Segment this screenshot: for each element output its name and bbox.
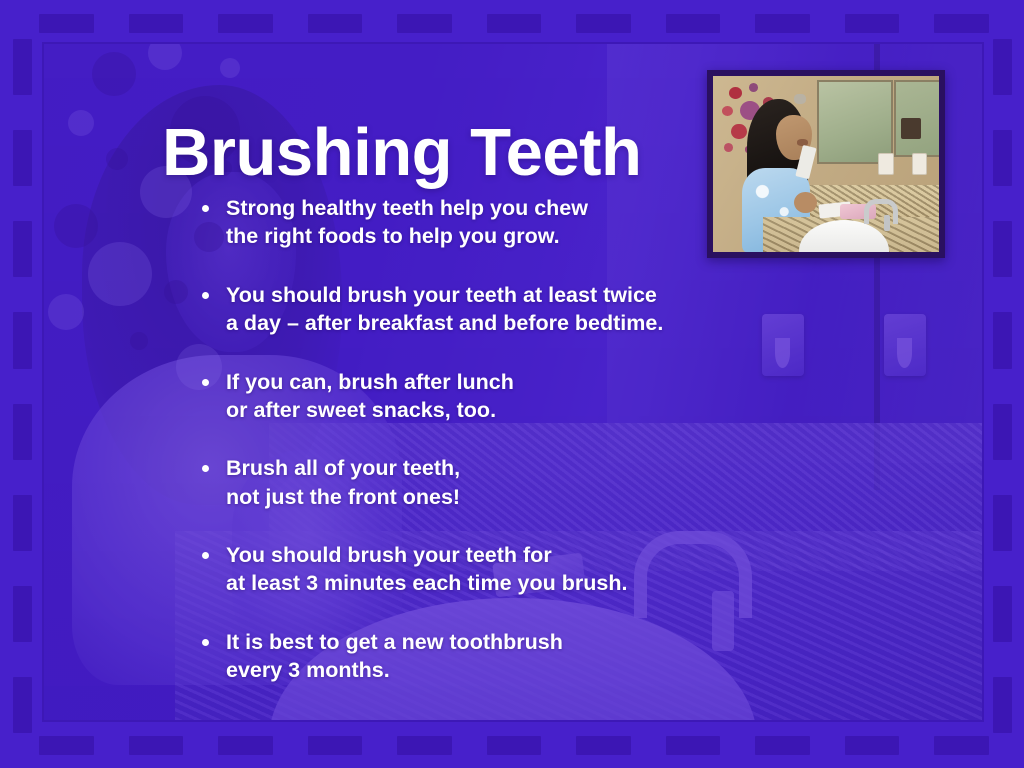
bullet-line: You should brush your teeth at least twi…: [226, 281, 742, 309]
frame-dash: [39, 736, 94, 755]
frame-dash: [13, 586, 32, 642]
bullet-dot-icon: [202, 379, 209, 386]
page-title: Brushing Teeth: [162, 119, 641, 186]
wall-decal-dot: [729, 87, 743, 99]
inset-mirror-reflection: [901, 118, 921, 139]
frame-dash: [13, 495, 32, 551]
presentation-slide: Brushing Teeth Strong healthy teeth help…: [0, 0, 1024, 768]
frame-dashes-bottom: [0, 734, 1024, 756]
frame-dash: [993, 586, 1012, 642]
frame-dash: [576, 736, 631, 755]
frame-dashes-top: [0, 12, 1024, 34]
list-item: Strong healthy teeth help you chew the r…: [202, 194, 742, 251]
bullet-line: It is best to get a new toothbrush: [226, 628, 742, 656]
frame-dash: [39, 14, 94, 33]
frame-dash: [666, 736, 721, 755]
list-item: Brush all of your teeth, not just the fr…: [202, 454, 742, 511]
frame-dash: [397, 14, 452, 33]
bullet-dot-icon: [202, 552, 209, 559]
inset-photo-image: [713, 76, 939, 252]
bullet-dot-icon: [202, 292, 209, 299]
inset-wall-outlet: [912, 153, 928, 174]
frame-dashes-right: [990, 0, 1014, 768]
frame-dash: [993, 312, 1012, 368]
bullet-dot-icon: [202, 205, 209, 212]
bullet-line: at least 3 minutes each time you brush.: [226, 569, 742, 597]
bullet-line: Strong healthy teeth help you chew: [226, 194, 742, 222]
frame-dash: [993, 130, 1012, 186]
frame-dash: [993, 677, 1012, 733]
frame-dash: [755, 736, 810, 755]
inset-faucet: [862, 199, 896, 231]
list-item: You should brush your teeth at least twi…: [202, 281, 742, 338]
frame-dash: [13, 404, 32, 460]
inset-towel-hook: [794, 94, 805, 105]
bullet-line: If you can, brush after lunch: [226, 368, 742, 396]
frame-dash: [13, 130, 32, 186]
frame-dash: [934, 736, 989, 755]
wall-decal-dot: [749, 83, 758, 92]
frame-dash: [129, 736, 184, 755]
inset-mirror-cabinet: [817, 80, 893, 165]
frame-dash: [993, 404, 1012, 460]
frame-dash: [993, 39, 1012, 95]
frame-dash: [666, 14, 721, 33]
frame-dash: [845, 736, 900, 755]
frame-dash: [129, 14, 184, 33]
frame-dash: [13, 221, 32, 277]
bullet-line: every 3 months.: [226, 656, 742, 684]
frame-dash: [13, 312, 32, 368]
list-item: You should brush your teeth for at least…: [202, 541, 742, 598]
bullet-line: Brush all of your teeth,: [226, 454, 742, 482]
wall-decal-dot: [724, 143, 733, 152]
list-item: It is best to get a new toothbrush every…: [202, 628, 742, 685]
frame-dash: [13, 677, 32, 733]
frame-dash: [218, 14, 273, 33]
girl-brushing-teeth-photo: [707, 70, 945, 258]
frame-dash: [576, 14, 631, 33]
bullet-list: Strong healthy teeth help you chew the r…: [202, 194, 742, 685]
frame-dash: [308, 14, 363, 33]
bullet-line: a day – after breakfast and before bedti…: [226, 309, 742, 337]
wall-decal-dot: [731, 124, 747, 140]
bullet-line: not just the front ones!: [226, 483, 742, 511]
frame-dash: [397, 736, 452, 755]
frame-dash: [487, 736, 542, 755]
bullet-line: or after sweet snacks, too.: [226, 396, 742, 424]
bullet-dot-icon: [202, 639, 209, 646]
frame-dash: [993, 495, 1012, 551]
bullet-line: the right foods to help you grow.: [226, 222, 742, 250]
bullet-dot-icon: [202, 465, 209, 472]
frame-dash: [845, 14, 900, 33]
frame-dash: [218, 736, 273, 755]
frame-dash: [755, 14, 810, 33]
inset-wall-outlet: [878, 153, 894, 174]
frame-dash: [487, 14, 542, 33]
frame-dash: [13, 39, 32, 95]
bullet-line: You should brush your teeth for: [226, 541, 742, 569]
frame-dash: [308, 736, 363, 755]
frame-dash: [993, 221, 1012, 277]
list-item: If you can, brush after lunch or after s…: [202, 368, 742, 425]
frame-dashes-left: [10, 0, 34, 768]
frame-dash: [934, 14, 989, 33]
